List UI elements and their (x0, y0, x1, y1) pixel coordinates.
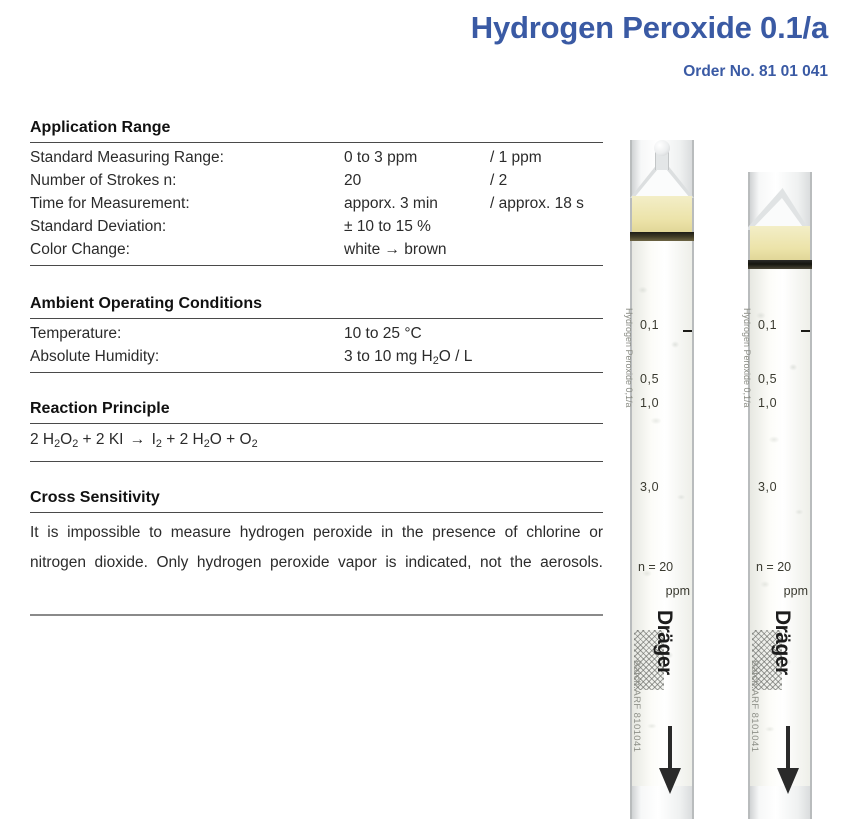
strokes-count-label: n = 20 (756, 560, 791, 574)
table-row: Number of Strokes n: 20 / 2 (30, 169, 603, 192)
reaction-arrow-icon: → (128, 431, 148, 448)
divider-bottom (30, 614, 603, 616)
row-value-primary: 0 to 3 ppm (344, 146, 490, 169)
tube-sealed-tip (630, 140, 694, 198)
detector-tube-used: 0,1 0,5 1,0 3,0 n = 20 ppm Hydrogen Pero… (748, 172, 812, 819)
eq-part: 2 H (30, 431, 54, 448)
eq-subscript: 2 (252, 438, 258, 450)
cross-sensitivity-text: It is impossible to measure hydrogen per… (30, 513, 603, 614)
section-spacer (30, 266, 603, 294)
unit-label: ppm (784, 584, 808, 598)
divider-bottom (30, 265, 603, 266)
tube-side-text: Hydrogen Peroxide 0,1/a (624, 308, 634, 408)
row-value-secondary: / 1 ppm (490, 146, 603, 169)
document-body: Application Range Standard Measuring Ran… (30, 118, 603, 616)
eq-part: O (60, 431, 72, 448)
scale-tick-major (801, 330, 810, 332)
flow-arrow-icon (777, 768, 799, 794)
row-label: Color Change: (30, 238, 344, 261)
batch-label: Batch:ARF 8101041 (631, 660, 642, 752)
row-value-primary: 20 (344, 169, 490, 192)
divider-bottom (30, 461, 603, 462)
eq-part: + O (222, 431, 252, 448)
humidity-post: O / L (439, 348, 473, 365)
scale-label-0-1: 0,1 (758, 318, 777, 332)
row-value-primary: 3 to 10 mg H2O / L (344, 345, 490, 373)
row-value-secondary: / approx. 18 s (490, 192, 603, 215)
unit-label: ppm (666, 584, 690, 598)
flow-arrow-shaft (668, 726, 672, 772)
scale-label-0-5: 0,5 (640, 372, 659, 386)
row-label: Time for Measurement: (30, 192, 344, 215)
eq-part: O (210, 431, 222, 448)
divider-bottom (30, 372, 603, 373)
ambient-conditions-table: Temperature: 10 to 25 °C Absolute Humidi… (30, 319, 603, 372)
section-heading-ambient-operating-conditions: Ambient Operating Conditions (30, 294, 603, 318)
reaction-equation: 2 H2O2 + 2 KI → I2 + 2 H2O + O2 (30, 424, 603, 461)
row-label: Standard Deviation: (30, 215, 344, 238)
row-label: Absolute Humidity: (30, 345, 344, 368)
humidity-pre: 3 to 10 mg H (344, 348, 433, 365)
section-heading-application-range: Application Range (30, 118, 603, 142)
tube-broken-tip (748, 172, 812, 230)
table-row: Color Change: white → brown (30, 238, 603, 261)
table-row: Standard Deviation: ± 10 to 15 % (30, 215, 603, 238)
tip-bead-icon (654, 140, 670, 156)
tube-pre-layer-plug (750, 226, 810, 264)
row-value-primary: 10 to 25 °C (344, 322, 490, 345)
eq-part: + 2 H (162, 431, 204, 448)
brand-label: Dräger (770, 610, 794, 675)
scale-tick-major (683, 330, 692, 332)
tube-seal-band (630, 232, 694, 241)
section-reaction-principle: Reaction Principle 2 H2O2 + 2 KI → I2 + … (30, 399, 603, 462)
row-label: Number of Strokes n: (30, 169, 344, 192)
section-heading-reaction-principle: Reaction Principle (30, 399, 603, 423)
tube-side-text: Hydrogen Peroxide 0,1/a (742, 308, 752, 408)
row-value-primary: ± 10 to 15 % (344, 215, 490, 238)
table-row: Standard Measuring Range: 0 to 3 ppm / 1… (30, 146, 603, 169)
row-label: Temperature: (30, 322, 344, 345)
tube-stain-indication (750, 269, 810, 409)
scale-label-3-0: 3,0 (640, 480, 659, 494)
row-label: Standard Measuring Range: (30, 146, 344, 169)
strokes-count-label: n = 20 (638, 560, 673, 574)
section-application-range: Application Range Standard Measuring Ran… (30, 118, 603, 266)
row-value-primary: white → brown (344, 238, 490, 261)
section-ambient-operating-conditions: Ambient Operating Conditions Temperature… (30, 294, 603, 373)
scale-label-3-0: 3,0 (758, 480, 777, 494)
brand-label: Dräger (652, 610, 676, 675)
table-row: Temperature: 10 to 25 °C (30, 322, 603, 345)
section-spacer (30, 373, 603, 399)
tube-pre-layer-plug (632, 196, 692, 236)
detector-tubes-illustration: 0,1 0,5 1,0 3,0 n = 20 ppm Hydrogen Pero… (604, 0, 850, 819)
scale-label-1-0: 1,0 (640, 396, 659, 410)
scale-label-0-1: 0,1 (640, 318, 659, 332)
eq-part: I (147, 431, 156, 448)
section-spacer (30, 462, 603, 488)
scale-label-1-0: 1,0 (758, 396, 777, 410)
application-range-table: Standard Measuring Range: 0 to 3 ppm / 1… (30, 143, 603, 265)
section-heading-cross-sensitivity: Cross Sensitivity (30, 488, 603, 512)
scale-label-0-5: 0,5 (758, 372, 777, 386)
detector-tube-unused: 0,1 0,5 1,0 3,0 n = 20 ppm Hydrogen Pero… (630, 140, 694, 819)
table-row: Absolute Humidity: 3 to 10 mg H2O / L (30, 345, 603, 368)
tube-seal-band (748, 260, 812, 269)
table-row: Time for Measurement: apporx. 3 min / ap… (30, 192, 603, 215)
row-value-secondary: / 2 (490, 169, 603, 192)
flow-arrow-shaft (786, 726, 790, 772)
flow-arrow-icon (659, 768, 681, 794)
section-cross-sensitivity: Cross Sensitivity It is impossible to me… (30, 488, 603, 616)
row-value-primary: apporx. 3 min (344, 192, 490, 215)
batch-label: Batch:ARF 8101041 (749, 660, 760, 752)
eq-part: + 2 KI (78, 431, 128, 448)
